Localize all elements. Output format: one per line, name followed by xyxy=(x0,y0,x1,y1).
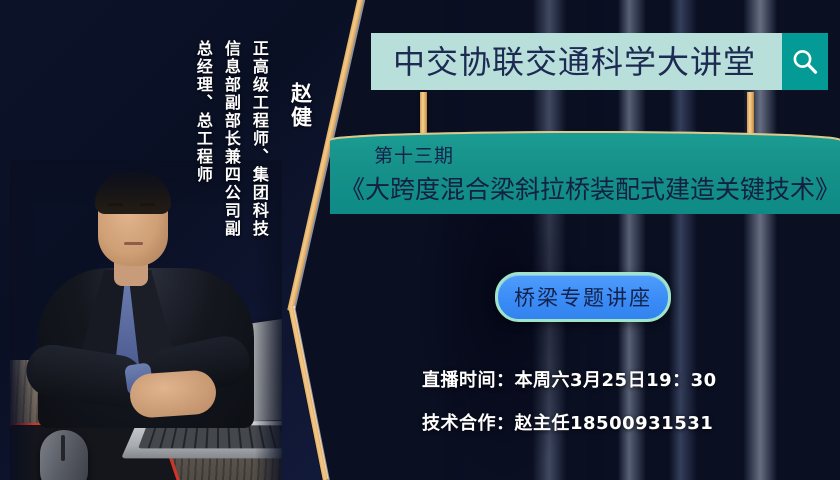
search-icon xyxy=(790,47,820,77)
speaker-hair xyxy=(95,172,171,214)
header-banner: 中交协联交通科学大讲堂 xyxy=(371,33,782,90)
eye-right xyxy=(142,210,154,214)
live-stream-poster: 赵健 正高级工程师、集团科技 信息部副部长兼四公司副 总经理、总工程师 中交协联… xyxy=(0,0,840,480)
contact-text: 技术合作：赵主任18500931531 xyxy=(422,409,713,435)
gold-pillar-left xyxy=(420,92,427,134)
eyebrow-right xyxy=(140,203,155,206)
topic-badge[interactable]: 桥梁专题讲座 xyxy=(495,272,671,322)
gold-line-lower-highlight xyxy=(293,306,330,480)
speaker-credential-line-2: 信息部副部长兼四公司副 xyxy=(222,40,240,238)
laptop-keyboard xyxy=(138,425,282,448)
page-title: 中交协联交通科学大讲堂 xyxy=(371,46,756,78)
mouth xyxy=(124,242,143,245)
eyebrow-left xyxy=(108,203,123,206)
eye-left xyxy=(110,210,122,214)
topic-badge-label: 桥梁专题讲座 xyxy=(514,282,652,312)
gold-pillar-right xyxy=(747,92,754,134)
episode-band: 第十三期 《大跨度混合梁斜拉桥装配式建造关键技术》 xyxy=(330,131,840,214)
episode-title: 《大跨度混合梁斜拉桥装配式建造关键技术》 xyxy=(340,170,832,206)
computer-mouse xyxy=(40,430,88,480)
speaker-credential-line-3: 总经理、总工程师 xyxy=(194,40,212,184)
search-button[interactable] xyxy=(782,33,828,90)
speaker-name: 赵健 xyxy=(288,82,312,130)
episode-number: 第十三期 xyxy=(374,141,454,168)
speaker-photo xyxy=(10,160,282,480)
speaker-credential-line-1: 正高级工程师、集团科技 xyxy=(250,40,268,238)
speaker-hands xyxy=(129,369,218,419)
live-time-text: 直播时间：本周六3月25日19：30 xyxy=(422,366,717,392)
